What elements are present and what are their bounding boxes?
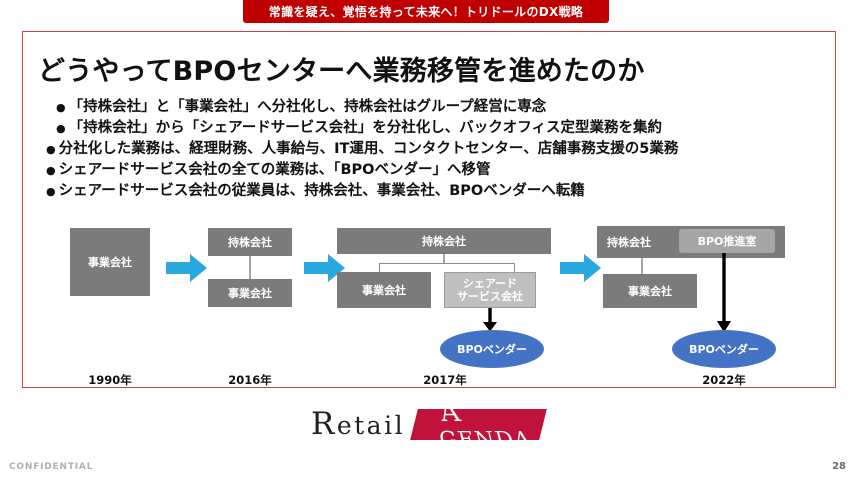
logo-agenda-text: AGENDA — [440, 396, 531, 452]
logo-word-retail: Retail — [311, 406, 405, 442]
bullet-text: シェアードサービス会社の全ての業務は、「BPOベンダー」へ移管 — [59, 160, 491, 181]
top-banner-area: 常識を疑え、覚悟を持って未来へ！トリドールのDX戦略 — [0, 0, 860, 24]
logo-agenda-rest: GENDA — [437, 427, 535, 452]
logo-retail-capital: R — [311, 406, 337, 442]
bullet-text: 「持株会社」と「事業会社」へ分社化し、持株会社はグループ経営に専念 — [69, 97, 547, 118]
bullet-list: ● 「持株会社」と「事業会社」へ分社化し、持株会社はグループ経営に専念 ● 「持… — [46, 97, 836, 202]
bullet-marker-icon: ● — [46, 139, 56, 160]
bullet-marker-icon: ● — [56, 118, 66, 139]
bullet-marker-icon: ● — [56, 97, 66, 118]
bullet-text: シェアードサービス会社の従業員は、持株会社、事業会社、BPOベンダーへ転籍 — [59, 181, 585, 202]
bullet-text: 「持株会社」から「シェアードサービス会社」を分社化し、バックオフィス定型業務を集… — [69, 118, 662, 139]
logo-retail-rest: etail — [337, 411, 405, 440]
bullet-marker-icon: ● — [46, 160, 56, 181]
confidential-label: CONFIDENTIAL — [9, 462, 93, 472]
retail-agenda-logo: Retail AGENDA — [311, 405, 549, 443]
headline-banner: 常識を疑え、覚悟を持って未来へ！トリドールのDX戦略 — [243, 0, 609, 23]
headline-banner-text: 常識を疑え、覚悟を持って未来へ！トリドールのDX戦略 — [269, 3, 583, 20]
page-title: どうやってBPOセンターへ業務移管を進めたのか — [38, 49, 645, 88]
page-number: 28 — [832, 461, 846, 472]
logo-word-agenda: AGENDA — [410, 409, 547, 440]
bullet-item: ● シェアードサービス会社の従業員は、持株会社、事業会社、BPOベンダーへ転籍 — [46, 181, 836, 202]
logo-agenda-capital: A — [436, 396, 535, 427]
bullet-item: ● 「持株会社」と「事業会社」へ分社化し、持株会社はグループ経営に専念 — [46, 97, 836, 118]
bullet-item: ● 分社化した業務は、経理財務、人事給与、IT運用、コンタクトセンター、店舗事務… — [46, 139, 836, 160]
bullet-marker-icon: ● — [46, 181, 56, 202]
bullet-item: ● シェアードサービス会社の全ての業務は、「BPOベンダー」へ移管 — [46, 160, 836, 181]
bullet-text: 分社化した業務は、経理財務、人事給与、IT運用、コンタクトセンター、店舗事務支援… — [59, 139, 679, 160]
bullet-item: ● 「持株会社」から「シェアードサービス会社」を分社化し、バックオフィス定型業務… — [46, 118, 836, 139]
